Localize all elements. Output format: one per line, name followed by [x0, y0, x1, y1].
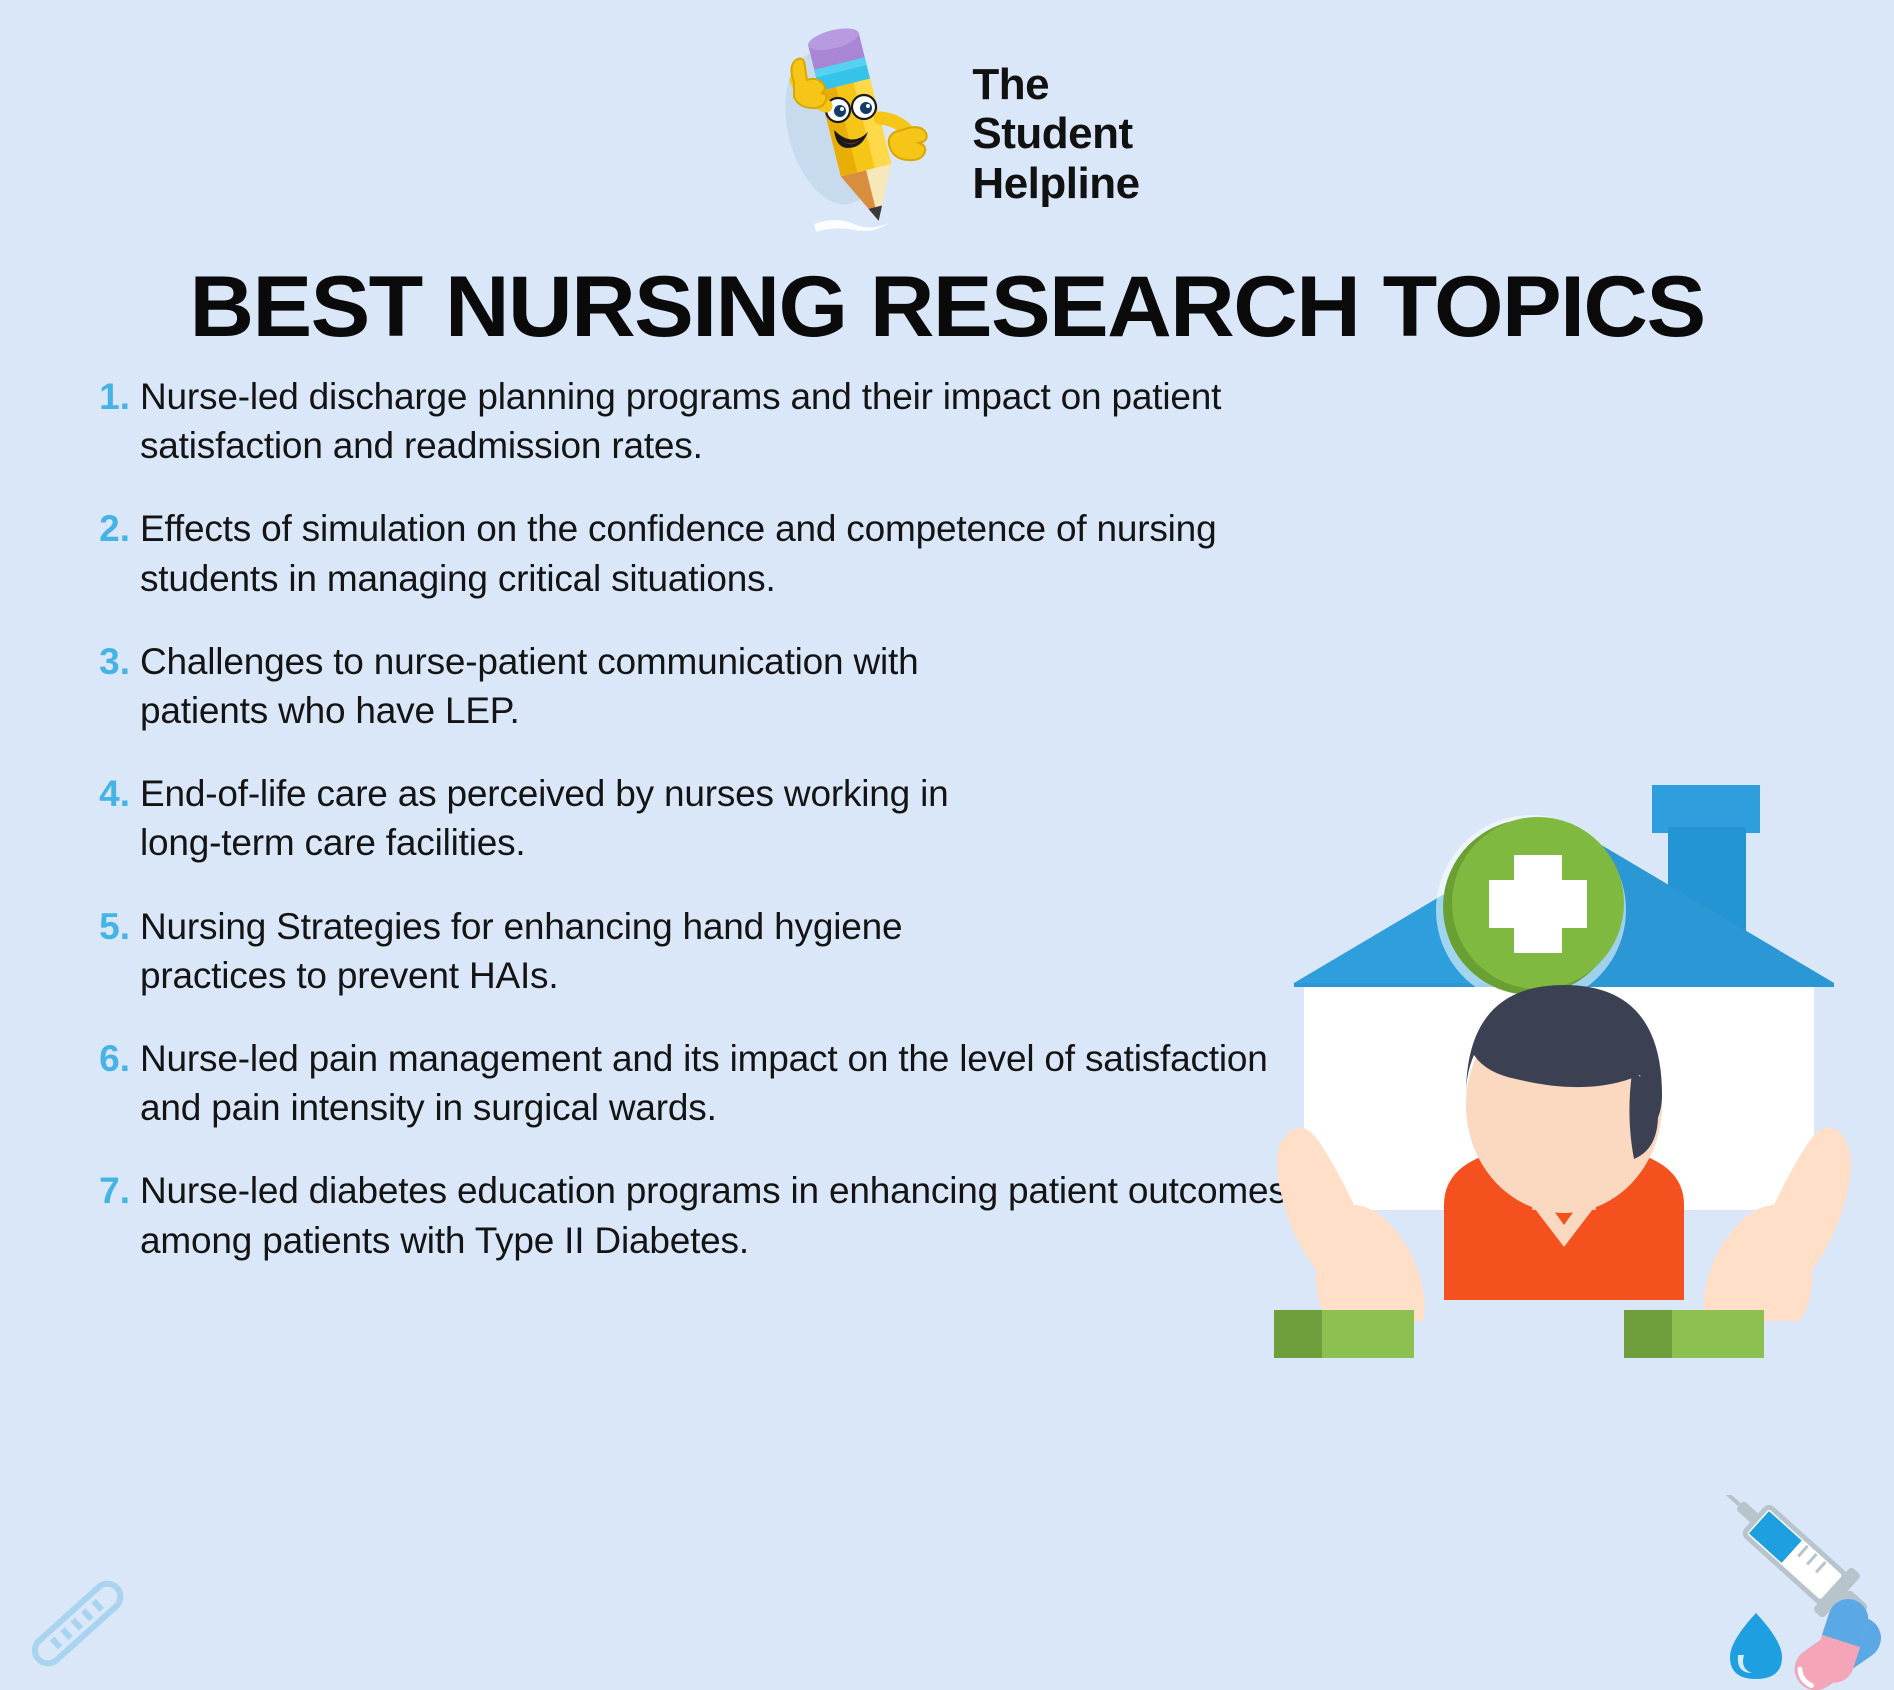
- list-item-number: 6.: [92, 1034, 140, 1083]
- capsule-pill-icon: [1786, 1594, 1889, 1690]
- list-item: 2. Effects of simulation on the confiden…: [92, 504, 1512, 602]
- list-item-number: 4.: [92, 769, 140, 818]
- list-item-text: Effects of simulation on the confidence …: [140, 504, 1320, 602]
- brand-name-line-3: Helpline: [972, 159, 1139, 208]
- list-item-number: 3.: [92, 637, 140, 686]
- list-item-text: Nurse-led pain management and its impact…: [140, 1034, 1320, 1132]
- pencil-mascot-thumbs-up-icon: [754, 20, 954, 250]
- list-item: 1. Nurse-led discharge planning programs…: [92, 372, 1512, 470]
- list-item-number: 5.: [92, 902, 140, 951]
- green-grass-blocks-icon: [1274, 1310, 1764, 1358]
- list-item-text: Nursing Strategies for enhancing hand hy…: [140, 902, 1020, 1000]
- person-avatar-icon: [1444, 985, 1684, 1300]
- page-title: BEST NURSING RESEARCH TOPICS: [0, 258, 1894, 357]
- list-item: 3. Challenges to nurse-patient communica…: [92, 637, 1512, 735]
- home-healthcare-illustration: [1244, 735, 1884, 1375]
- list-item-text: Nurse-led discharge planning programs an…: [140, 372, 1320, 470]
- list-item-number: 7.: [92, 1166, 140, 1215]
- thermometer-icon: [4, 1560, 154, 1690]
- brand-name-line-1: The: [972, 60, 1139, 109]
- list-item-text: End-of-life care as perceived by nurses …: [140, 769, 1020, 867]
- brand-logo: The Student Helpline: [0, 20, 1894, 250]
- medicine-decor: [1694, 1495, 1894, 1690]
- water-drop-icon: [1730, 1613, 1782, 1679]
- list-item-number: 1.: [92, 372, 140, 421]
- list-item-number: 2.: [92, 504, 140, 553]
- brand-name-line-2: Student: [972, 109, 1139, 158]
- brand-name: The Student Helpline: [972, 20, 1139, 208]
- list-item-text: Nurse-led diabetes education programs in…: [140, 1166, 1320, 1264]
- list-item-text: Challenges to nurse-patient communicatio…: [140, 637, 1020, 735]
